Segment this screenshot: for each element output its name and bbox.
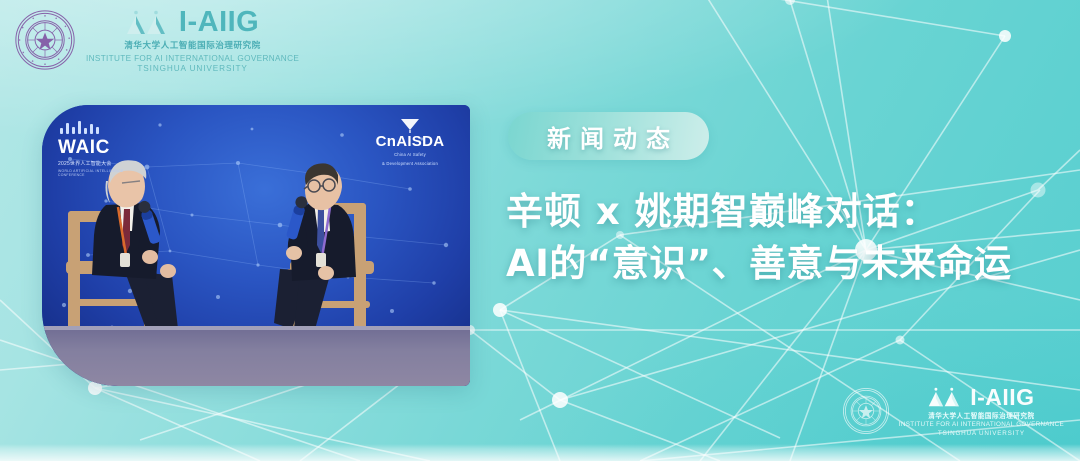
header-brand-lockup: I-AIIG 清华大学人工智能国际治理研究院 INSTITUTE FOR AI … <box>14 8 299 73</box>
cnaisda-wordmark: CnAISDA <box>364 134 456 149</box>
page-title: 辛顿 x 姚期智巅峰对话： AI的“意识”、善意与未来命运 <box>506 186 1072 290</box>
bottom-light-band <box>0 444 1080 461</box>
brand-wordmark: I-AIIG <box>179 8 259 37</box>
iaiig-mountain-mark-watermark-icon <box>928 387 966 408</box>
tsinghua-seal-watermark-icon <box>842 387 890 435</box>
waic-wordmark: WAIC <box>58 138 132 157</box>
cnaisda-logo: CnAISDA China AI Safety & Development As… <box>364 117 456 168</box>
cnaisda-flag-icon <box>399 117 421 133</box>
category-badge: 新闻动态 <box>508 112 709 160</box>
brand-english-line1: INSTITUTE FOR AI INTERNATIONAL GOVERNANC… <box>86 55 299 63</box>
footer-brand-chinese-name: 清华大学人工智能国际治理研究院 <box>928 413 1034 420</box>
event-photo: WAIC 2025世界人工智能大会 WORLD ARTIFICIAL INTEL… <box>42 105 470 386</box>
footer-brand-english-line1: INSTITUTE FOR AI INTERNATIONAL GOVERNANC… <box>899 422 1064 428</box>
headline-line-2: AI的“意识”、善意与未来命运 <box>506 238 1072 290</box>
iaiig-mountain-mark-icon <box>126 10 174 36</box>
waic-english-name: WORLD ARTIFICIAL INTELLIGENCE CONFERENCE <box>58 169 132 177</box>
footer-brand-lockup: I-AIIG 清华大学人工智能国际治理研究院 INSTITUTE FOR AI … <box>842 386 1064 437</box>
footer-brand-english-line2: TSINGHUA UNIVERSITY <box>938 431 1025 437</box>
brand-english-line2: TSINGHUA UNIVERSITY <box>137 65 247 73</box>
brand-chinese-name: 清华大学人工智能国际治理研究院 <box>124 42 261 51</box>
waic-bars-icon <box>60 121 132 134</box>
cnaisda-sub-line1: China AI Safety <box>364 152 456 158</box>
cnaisda-sub-line2: & Development Association <box>364 161 456 167</box>
waic-chinese-name: 2025世界人工智能大会 <box>58 160 132 167</box>
waic-logo: WAIC 2025世界人工智能大会 WORLD ARTIFICIAL INTEL… <box>58 121 132 177</box>
category-badge-label: 新闻动态 <box>538 119 679 154</box>
footer-brand-wordmark: I-AIIG <box>970 386 1034 409</box>
headline-line-1: 辛顿 x 姚期智巅峰对话： <box>506 186 1072 238</box>
tsinghua-seal-icon <box>14 9 76 71</box>
stage-floor <box>42 326 470 386</box>
news-poster: I-AIIG 清华大学人工智能国际治理研究院 INSTITUTE FOR AI … <box>0 0 1080 461</box>
